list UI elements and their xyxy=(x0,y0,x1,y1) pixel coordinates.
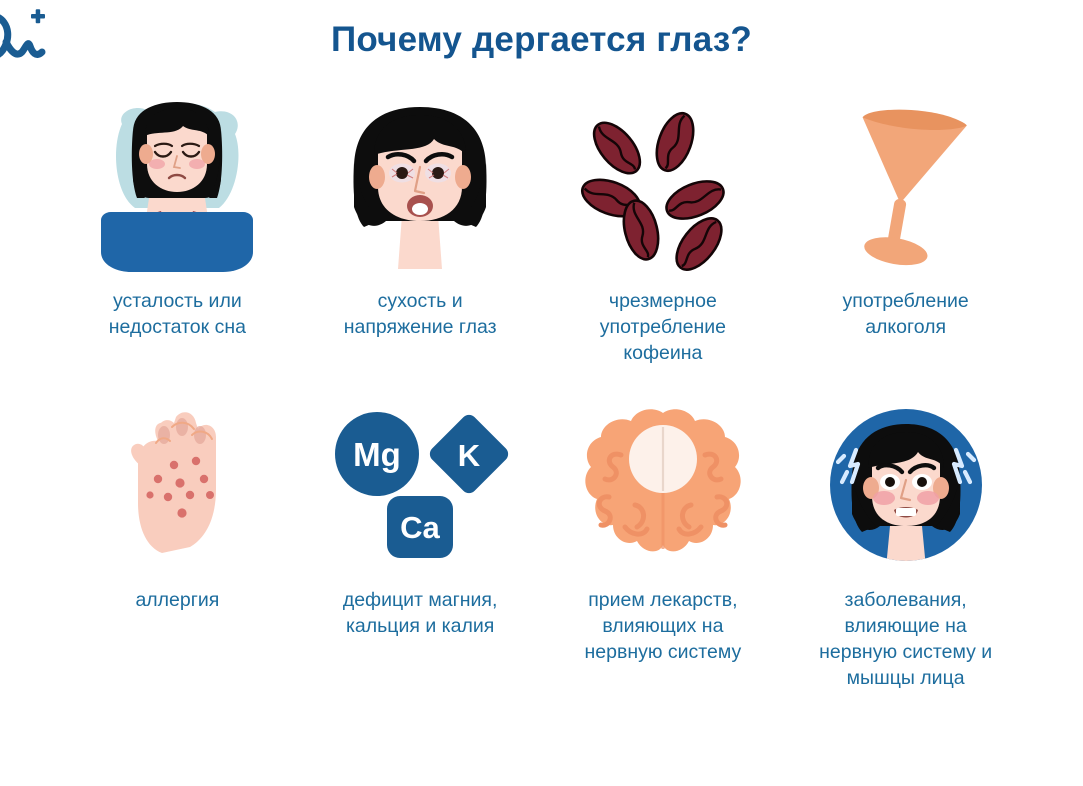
nervous-system-face-icon xyxy=(822,400,990,570)
cocktail-glass-icon xyxy=(831,100,981,275)
cause-card-alcohol: употребление алкоголя xyxy=(784,100,1027,367)
badge-ca: Ca xyxy=(387,496,453,558)
cause-caption: аллергия xyxy=(135,588,219,614)
tired-woman-in-bed-icon xyxy=(87,100,267,275)
badge-k-label: K xyxy=(458,438,481,473)
cause-card-eye-strain: сухость и напряжение глаз xyxy=(299,100,542,367)
cause-card-nervous-disease: заболевания, влияющие на нервную систему… xyxy=(784,400,1027,692)
allergy-hand-rash-icon xyxy=(112,400,242,570)
badge-k: K xyxy=(427,412,512,497)
cause-caption: прием лекарств, влияющих на нервную сист… xyxy=(585,588,742,666)
causes-row-top: усталость или недостаток сна xyxy=(56,100,1027,367)
brain-with-pill-icon xyxy=(579,400,747,570)
causes-row-bottom: аллергия Mg K Ca xyxy=(56,400,1027,692)
badge-mg: Mg xyxy=(335,412,419,496)
badge-ca-label: Ca xyxy=(400,510,440,545)
cause-caption: заболевания, влияющие на нервную систему… xyxy=(819,588,992,692)
cause-caption: дефицит магния, кальция и калия xyxy=(343,588,498,640)
cause-card-minerals: Mg K Ca дефицит магния, кальция и калия xyxy=(299,400,542,692)
minerals-badges-icon: Mg K Ca xyxy=(331,400,509,570)
cause-caption: усталость или недостаток сна xyxy=(109,289,246,341)
page-title: Почему дергается глаз? xyxy=(0,20,1083,60)
coffee-beans-icon xyxy=(583,100,743,275)
cause-card-caffeine: чрезмерное употребление кофеина xyxy=(542,100,785,367)
cause-card-allergy: аллергия xyxy=(56,400,299,692)
strained-eyes-face-icon xyxy=(334,100,506,275)
badge-mg-label: Mg xyxy=(353,436,401,473)
cause-caption: чрезмерное употребление кофеина xyxy=(600,289,726,367)
cause-caption: сухость и напряжение глаз xyxy=(344,289,497,341)
cause-card-medication: прием лекарств, влияющих на нервную сист… xyxy=(542,400,785,692)
cause-card-fatigue: усталость или недостаток сна xyxy=(56,100,299,367)
cause-caption: употребление алкоголя xyxy=(843,289,969,341)
